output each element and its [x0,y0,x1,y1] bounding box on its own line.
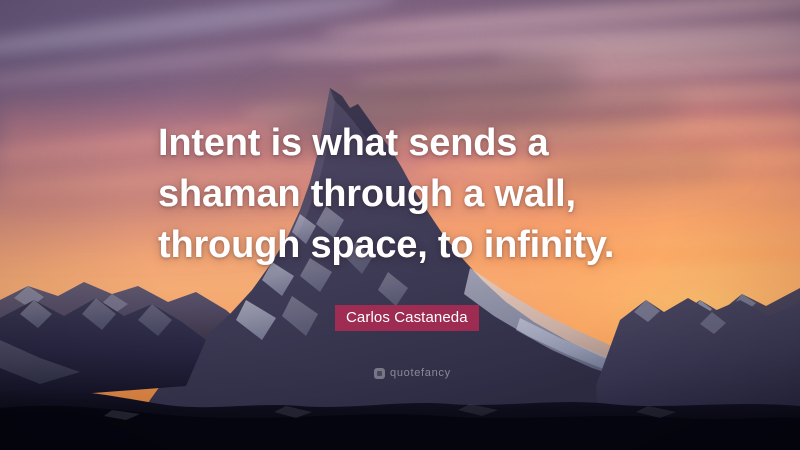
watermark: quotefancy [374,368,451,379]
quote-line-2: shaman through a wall, [158,169,678,220]
quote-line-1: Intent is what sends a [158,118,678,169]
watermark-brand-label: quotefancy [390,368,451,379]
quote-image-canvas: Intent is what sends a shaman through a … [0,0,800,450]
author-name-badge: Carlos Castaneda [335,305,479,331]
quotefancy-logo-icon [374,368,385,379]
quote-text: Intent is what sends a shaman through a … [158,118,678,271]
quote-line-3: through space, to infinity. [158,220,678,271]
